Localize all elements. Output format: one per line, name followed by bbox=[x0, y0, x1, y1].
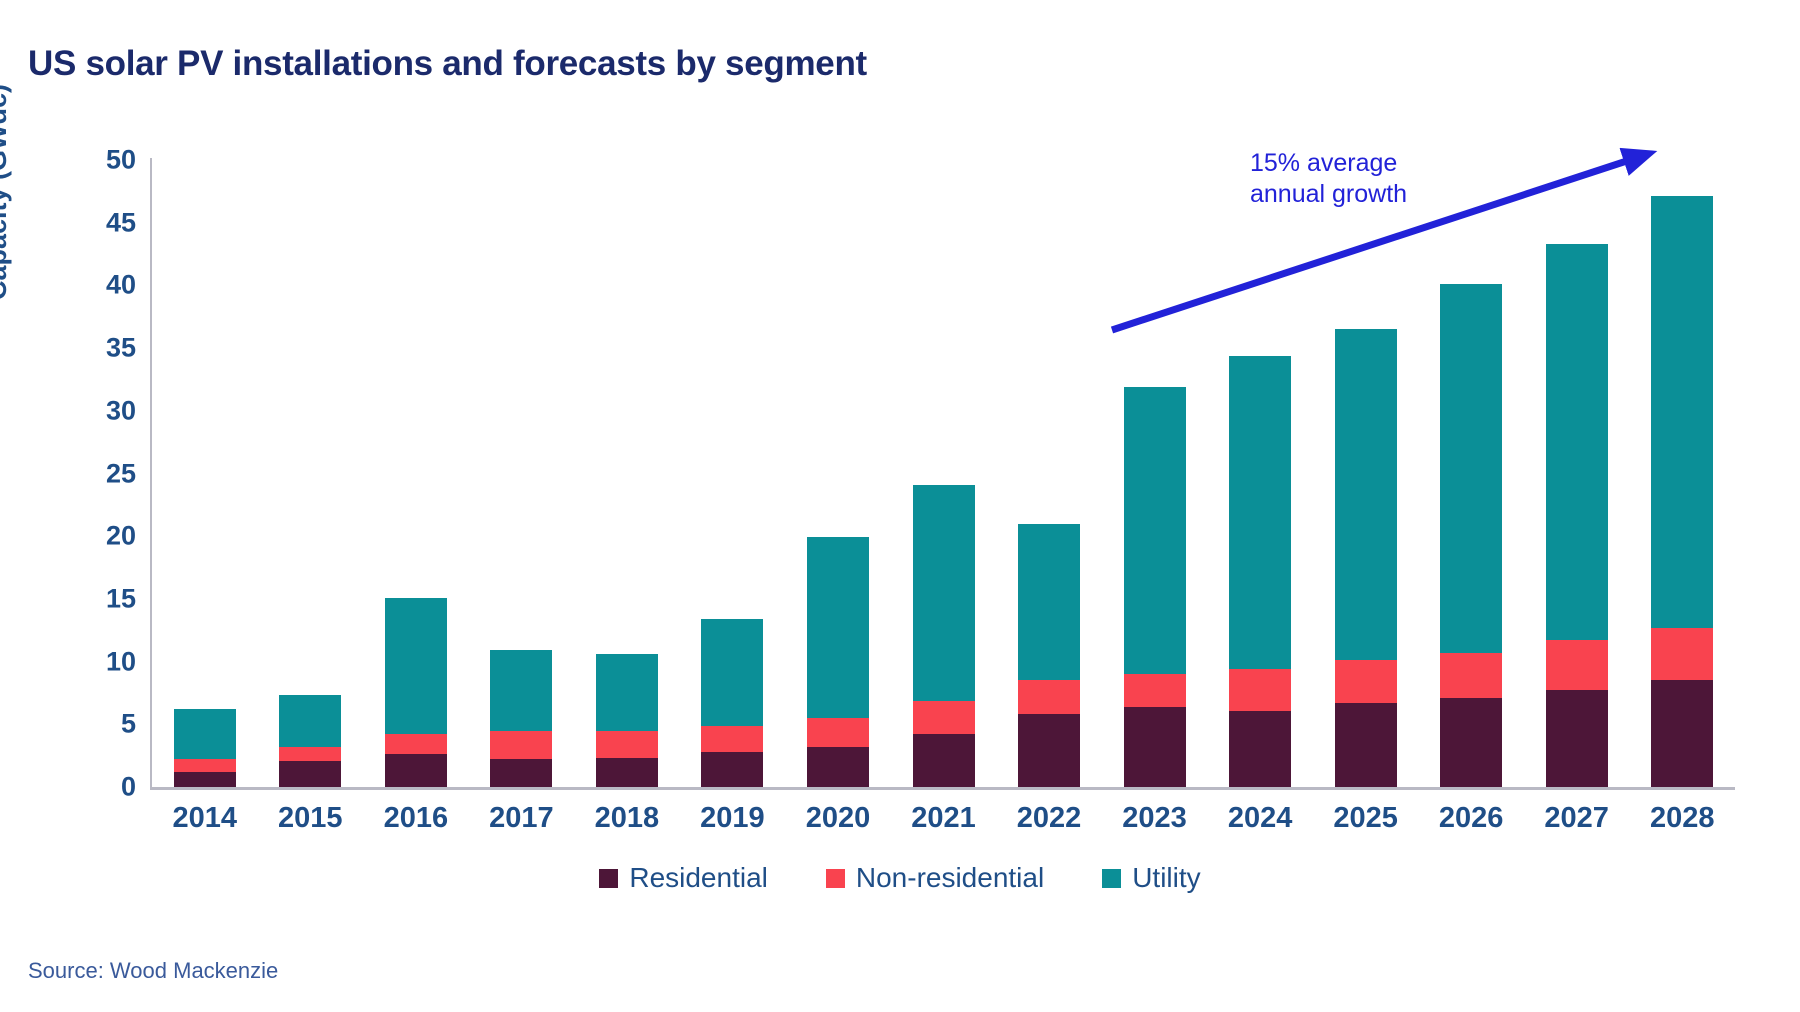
x-axis-tick-label-2025: 2025 bbox=[1306, 802, 1426, 835]
bar-segment-utility[interactable] bbox=[490, 650, 552, 730]
bar-segment-non_residential[interactable] bbox=[490, 731, 552, 760]
x-axis-tick-label-2028: 2028 bbox=[1622, 802, 1742, 835]
bar-segment-non_residential[interactable] bbox=[1124, 674, 1186, 707]
bar-segment-residential[interactable] bbox=[1651, 680, 1713, 787]
bar-group-2023[interactable] bbox=[1124, 387, 1186, 787]
x-axis-tick-label-2014: 2014 bbox=[145, 802, 265, 835]
bar-group-2016[interactable] bbox=[385, 598, 447, 787]
source-note: Source: Wood Mackenzie bbox=[28, 958, 278, 984]
bar-group-2018[interactable] bbox=[596, 654, 658, 787]
page-title: US solar PV installations and forecasts … bbox=[28, 44, 867, 84]
y-axis-title: Capacity (GWdc) bbox=[0, 84, 13, 300]
legend-swatch-residential-icon bbox=[599, 869, 618, 888]
bar-group-2027[interactable] bbox=[1546, 244, 1608, 787]
x-axis-tick-label-2026: 2026 bbox=[1411, 802, 1531, 835]
y-axis-tick-label: 10 bbox=[76, 646, 136, 677]
legend: ResidentialNon-residentialUtility bbox=[0, 862, 1800, 894]
bar-segment-non_residential[interactable] bbox=[807, 718, 869, 747]
bar-segment-utility[interactable] bbox=[1546, 244, 1608, 640]
bar-segment-residential[interactable] bbox=[490, 759, 552, 787]
bar-segment-utility[interactable] bbox=[596, 654, 658, 730]
bar-segment-residential[interactable] bbox=[279, 761, 341, 787]
bar-segment-utility[interactable] bbox=[1440, 284, 1502, 653]
bar-segment-non_residential[interactable] bbox=[279, 747, 341, 761]
bar-segment-residential[interactable] bbox=[1018, 714, 1080, 787]
bar-segment-residential[interactable] bbox=[1229, 711, 1291, 787]
y-axis-tick-label: 25 bbox=[76, 458, 136, 489]
bar-segment-utility[interactable] bbox=[1335, 329, 1397, 660]
x-axis-tick-label-2018: 2018 bbox=[567, 802, 687, 835]
x-axis-tick-label-2019: 2019 bbox=[672, 802, 792, 835]
bar-segment-residential[interactable] bbox=[807, 747, 869, 787]
x-axis-tick-label-2022: 2022 bbox=[989, 802, 1109, 835]
growth-annotation-label: 15% average annual growth bbox=[1250, 148, 1407, 209]
bar-group-2026[interactable] bbox=[1440, 284, 1502, 787]
bar-segment-residential[interactable] bbox=[1546, 690, 1608, 787]
legend-swatch-utility-icon bbox=[1102, 869, 1121, 888]
legend-item-non_residential[interactable]: Non-residential bbox=[826, 862, 1044, 894]
bar-segment-residential[interactable] bbox=[1440, 698, 1502, 787]
x-axis-tick-label-2021: 2021 bbox=[884, 802, 1004, 835]
bar-segment-residential[interactable] bbox=[1124, 707, 1186, 787]
y-axis-tick-label: 15 bbox=[76, 583, 136, 614]
legend-label: Utility bbox=[1132, 862, 1200, 894]
bar-segment-non_residential[interactable] bbox=[596, 731, 658, 759]
bar-segment-utility[interactable] bbox=[279, 695, 341, 746]
x-axis-tick-label-2015: 2015 bbox=[250, 802, 370, 835]
plot-area bbox=[152, 158, 1735, 787]
bar-segment-utility[interactable] bbox=[913, 485, 975, 701]
bar-segment-non_residential[interactable] bbox=[1229, 669, 1291, 710]
bar-segment-non_residential[interactable] bbox=[1546, 640, 1608, 690]
bar-group-2020[interactable] bbox=[807, 537, 869, 787]
x-axis-tick-label-2016: 2016 bbox=[356, 802, 476, 835]
bar-segment-utility[interactable] bbox=[1229, 356, 1291, 670]
legend-swatch-non_residential-icon bbox=[826, 869, 845, 888]
bar-group-2028[interactable] bbox=[1651, 196, 1713, 787]
y-axis-tick-label: 30 bbox=[76, 395, 136, 426]
bar-segment-non_residential[interactable] bbox=[1440, 653, 1502, 698]
y-axis-tick-label: 5 bbox=[76, 709, 136, 740]
bar-segment-non_residential[interactable] bbox=[385, 734, 447, 754]
bar-segment-non_residential[interactable] bbox=[174, 759, 236, 772]
bar-segment-utility[interactable] bbox=[1124, 387, 1186, 674]
y-axis-tick-label: 50 bbox=[76, 145, 136, 176]
x-axis-tick-label-2023: 2023 bbox=[1095, 802, 1215, 835]
x-axis-tick-label-2024: 2024 bbox=[1200, 802, 1320, 835]
legend-item-residential[interactable]: Residential bbox=[599, 862, 768, 894]
bar-segment-utility[interactable] bbox=[701, 619, 763, 726]
bar-segment-residential[interactable] bbox=[174, 772, 236, 787]
y-axis-tick-label: 45 bbox=[76, 207, 136, 238]
bar-group-2024[interactable] bbox=[1229, 356, 1291, 787]
bar-segment-residential[interactable] bbox=[913, 734, 975, 787]
bar-group-2021[interactable] bbox=[913, 485, 975, 787]
bar-segment-residential[interactable] bbox=[701, 752, 763, 787]
bar-segment-residential[interactable] bbox=[596, 758, 658, 787]
y-axis-tick-label: 35 bbox=[76, 333, 136, 364]
bar-group-2019[interactable] bbox=[701, 619, 763, 787]
x-axis-line bbox=[150, 787, 1735, 790]
legend-item-utility[interactable]: Utility bbox=[1102, 862, 1200, 894]
y-axis-tick-label: 40 bbox=[76, 270, 136, 301]
bar-segment-residential[interactable] bbox=[385, 754, 447, 787]
legend-label: Residential bbox=[629, 862, 768, 894]
bar-segment-utility[interactable] bbox=[174, 709, 236, 759]
y-axis-tick-label: 20 bbox=[76, 521, 136, 552]
bar-segment-utility[interactable] bbox=[1651, 196, 1713, 627]
bar-group-2022[interactable] bbox=[1018, 524, 1080, 787]
x-axis-tick-label-2020: 2020 bbox=[778, 802, 898, 835]
x-axis-tick-label-2027: 2027 bbox=[1517, 802, 1637, 835]
bar-group-2014[interactable] bbox=[174, 709, 236, 787]
bar-segment-non_residential[interactable] bbox=[701, 726, 763, 752]
legend-label: Non-residential bbox=[856, 862, 1044, 894]
bar-segment-non_residential[interactable] bbox=[1651, 628, 1713, 681]
bar-segment-non_residential[interactable] bbox=[1018, 680, 1080, 714]
bar-segment-utility[interactable] bbox=[1018, 524, 1080, 681]
bar-segment-utility[interactable] bbox=[385, 598, 447, 735]
bar-group-2025[interactable] bbox=[1335, 329, 1397, 787]
bar-segment-utility[interactable] bbox=[807, 537, 869, 718]
bar-segment-non_residential[interactable] bbox=[1335, 660, 1397, 703]
bar-segment-non_residential[interactable] bbox=[913, 701, 975, 735]
bar-segment-residential[interactable] bbox=[1335, 703, 1397, 787]
y-axis-tick-label: 0 bbox=[76, 772, 136, 803]
chart-page: US solar PV installations and forecasts … bbox=[0, 0, 1800, 1012]
bar-group-2017[interactable] bbox=[490, 650, 552, 787]
x-axis-tick-label-2017: 2017 bbox=[461, 802, 581, 835]
bar-group-2015[interactable] bbox=[279, 695, 341, 787]
